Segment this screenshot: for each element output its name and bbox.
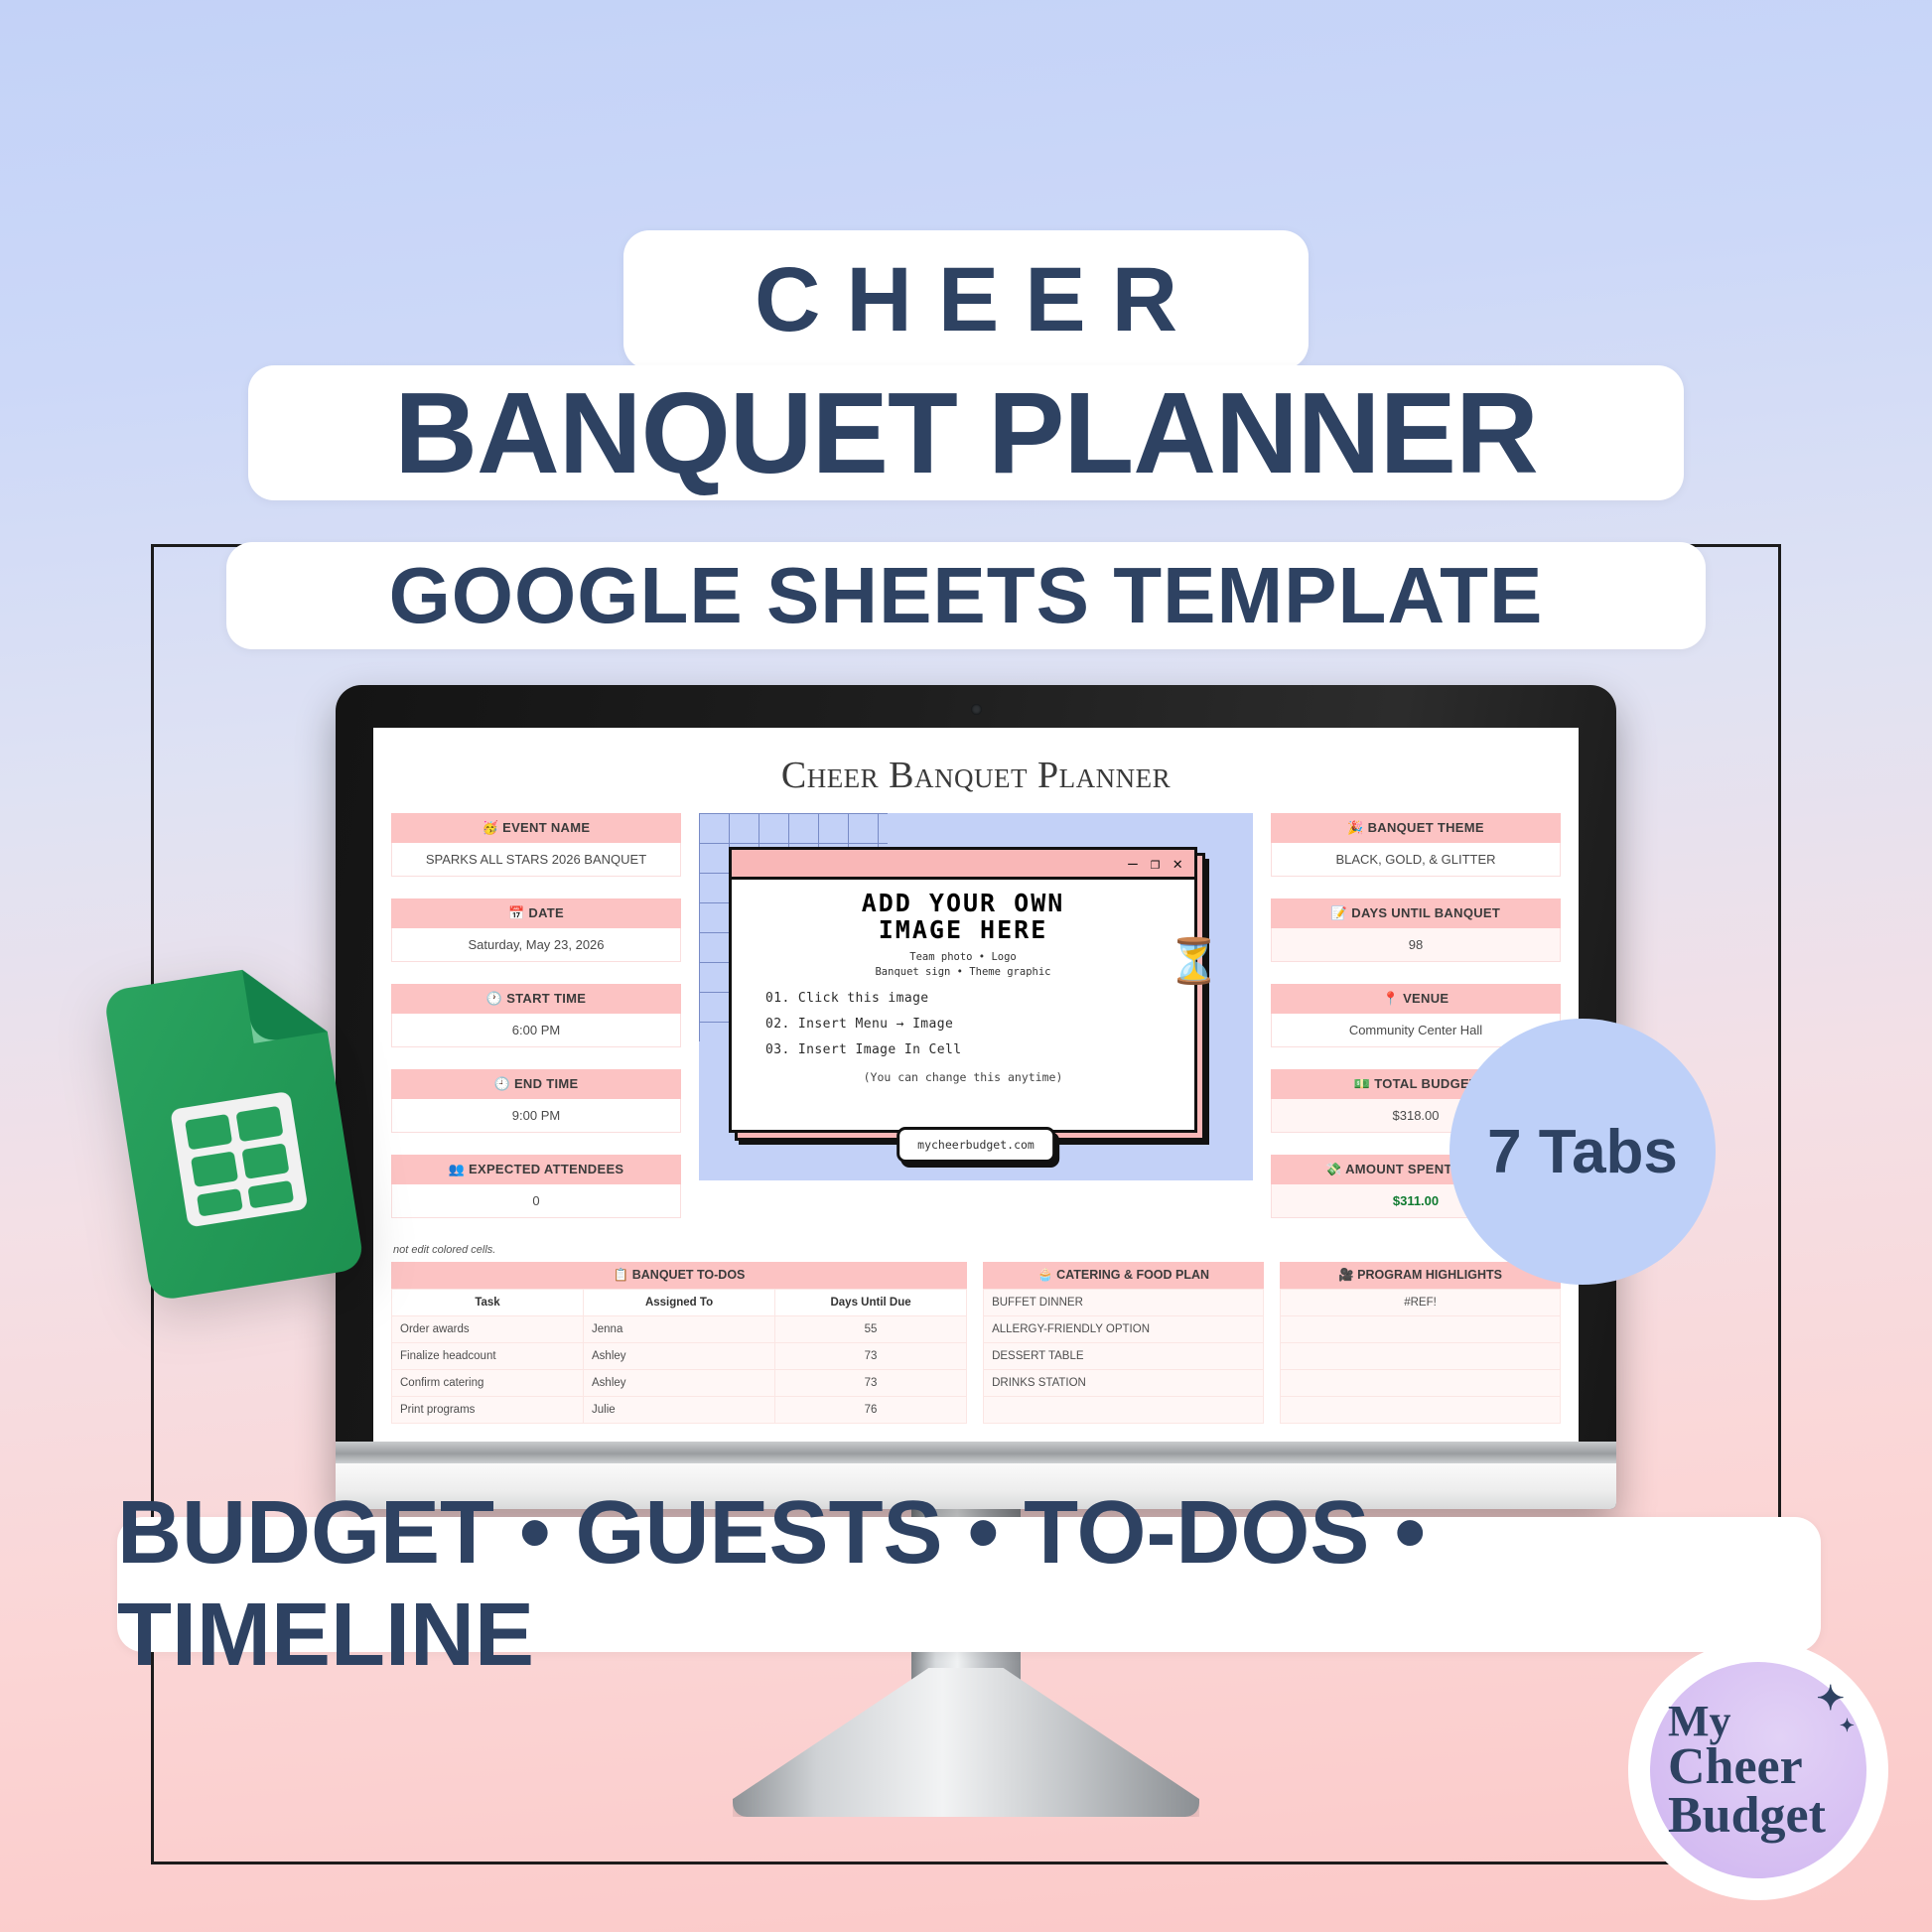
movie-camera-icon: 🎥 [1338,1268,1354,1282]
column-assigned-to: Assigned To [584,1290,775,1316]
placeholder-sub-line2: Banquet sign • Theme graphic [744,965,1182,980]
list-item[interactable] [1281,1397,1561,1424]
program-table: #REF! [1280,1289,1561,1424]
website-url-chip[interactable]: mycheerbudget.com [897,1127,1055,1163]
image-placeholder-canvas: ⏳ — ❐ ✕ ADD YOUR OWN IMAGE HERE Team pho… [699,813,1253,1180]
logo-line-my: My [1668,1701,1731,1742]
field-header: 🥳 EVENT NAME [391,813,681,843]
column-task: Task [392,1290,584,1316]
cell-catering[interactable] [984,1397,1264,1424]
cell-assignee[interactable]: Julie [584,1397,775,1424]
list-item[interactable]: DESSERT TABLE [984,1343,1264,1370]
close-icon[interactable]: ✕ [1173,856,1182,872]
todos-table-block: 📋 BANQUET TO-DOS Task Assigned To Days U… [391,1262,967,1424]
memo-icon: 📝 [1331,905,1348,920]
program-title: PROGRAM HIGHLIGHTS [1357,1268,1502,1282]
field-end-time: 🕘 END TIME 9:00 PM [391,1069,681,1133]
field-header: 🕘 END TIME [391,1069,681,1099]
todos-title: BANQUET TO-DOS [632,1268,746,1282]
placeholder-heading-line2: IMAGE HERE [744,916,1182,943]
cell-program[interactable] [1281,1397,1561,1424]
field-header: 📝 DAYS UNTIL BANQUET [1271,898,1561,928]
cell-catering[interactable]: ALLERGY-FRIENDLY OPTION [984,1316,1264,1343]
instruction-step-2: 02. Insert Menu → Image [765,1017,1182,1032]
cell-program[interactable] [1281,1316,1561,1343]
party-popper-icon: 🥳 [483,820,499,835]
cupcake-icon: 🧁 [1037,1268,1053,1282]
cell-days[interactable]: 55 [775,1316,967,1343]
field-label: START TIME [506,991,586,1006]
list-item[interactable]: #REF! [1281,1290,1561,1316]
field-expected-attendees: 👥 EXPECTED ATTENDEES 0 [391,1155,681,1218]
todos-table-header: 📋 BANQUET TO-DOS [391,1262,967,1289]
calendar-icon: 📅 [508,905,525,920]
list-item[interactable]: DRINKS STATION [984,1370,1264,1397]
sparkle-small-icon: ✦ [1840,1718,1855,1734]
list-item[interactable] [984,1397,1264,1424]
field-value[interactable]: 6:00 PM [391,1014,681,1047]
money-icon: 💵 [1354,1076,1371,1091]
program-table-block: 🎥 PROGRAM HIGHLIGHTS #REF! [1280,1262,1561,1424]
field-header: 👥 EXPECTED ATTENDEES [391,1155,681,1184]
field-value[interactable]: Saturday, May 23, 2026 [391,928,681,962]
hero-subtitle: GOOGLE SHEETS TEMPLATE [226,542,1706,649]
field-value[interactable]: 9:00 PM [391,1099,681,1133]
spreadsheet: Cheer Banquet Planner 🥳 EVENT NAME SPARK… [373,728,1579,1442]
field-label: DATE [528,905,564,920]
left-field-column: 🥳 EVENT NAME SPARKS ALL STARS 2026 BANQU… [391,813,681,1240]
hourglass-icon: ⏳ [1167,940,1221,984]
cell-assignee[interactable]: Ashley [584,1370,775,1397]
webcam-icon [971,704,982,715]
field-label: EXPECTED ATTENDEES [469,1162,623,1176]
table-row[interactable]: Finalize headcount Ashley 73 [392,1343,967,1370]
cell-task[interactable]: Finalize headcount [392,1343,584,1370]
cell-days[interactable]: 73 [775,1370,967,1397]
tabs-count-badge: 7 Tabs [1449,1019,1716,1285]
sheet-title: Cheer Banquet Planner [391,754,1561,797]
field-event-name: 🥳 EVENT NAME SPARKS ALL STARS 2026 BANQU… [391,813,681,877]
cell-program[interactable] [1281,1370,1561,1397]
window-body: ADD YOUR OWN IMAGE HERE Team photo • Log… [732,880,1194,1090]
sheet-top-row: 🥳 EVENT NAME SPARKS ALL STARS 2026 BANQU… [391,813,1561,1240]
cell-task[interactable]: Confirm catering [392,1370,584,1397]
field-label: VENUE [1403,991,1449,1006]
google-sheets-icon [79,954,392,1328]
map-pin-icon: 📍 [1383,991,1400,1006]
cell-program[interactable]: #REF! [1281,1290,1561,1316]
monitor-mockup: Cheer Banquet Planner 🥳 EVENT NAME SPARK… [336,685,1616,1509]
placeholder-heading-line1: ADD YOUR OWN [744,890,1182,916]
field-header: 📍 VENUE [1271,984,1561,1014]
minimize-icon[interactable]: — [1128,856,1138,872]
sparkle-icon: ✦ [1817,1684,1846,1716]
catering-table: BUFFET DINNER ALLERGY-FRIENDLY OPTION DE… [983,1289,1264,1424]
clock-nine-icon: 🕘 [494,1076,511,1091]
monitor-chin-strip [336,1442,1616,1463]
money-flying-icon: 💸 [1325,1162,1342,1176]
field-header: 🎉 BANQUET THEME [1271,813,1561,843]
people-icon: 👥 [449,1162,466,1176]
hero-title-line2: BANQUET PLANNER [248,365,1684,500]
instruction-window: — ❐ ✕ ADD YOUR OWN IMAGE HERE Team photo… [729,847,1197,1133]
list-item[interactable] [1281,1343,1561,1370]
table-row[interactable]: Print programs Julie 76 [392,1397,967,1424]
cell-task[interactable]: Print programs [392,1397,584,1424]
list-item[interactable] [1281,1370,1561,1397]
field-value[interactable]: 0 [391,1184,681,1218]
cell-days[interactable]: 73 [775,1343,967,1370]
field-header: 📅 DATE [391,898,681,928]
column-days-until-due: Days Until Due [775,1290,967,1316]
field-date: 📅 DATE Saturday, May 23, 2026 [391,898,681,962]
cell-task[interactable]: Order awards [392,1316,584,1343]
cell-catering[interactable]: DESSERT TABLE [984,1343,1264,1370]
field-banquet-theme: 🎉 BANQUET THEME BLACK, GOLD, & GLITTER [1271,813,1561,877]
field-label: TOTAL BUDGET [1374,1076,1477,1091]
restore-icon[interactable]: ❐ [1151,856,1161,872]
tabs-count-label: 7 Tabs [1487,1117,1678,1187]
list-item[interactable]: ALLERGY-FRIENDLY OPTION [984,1316,1264,1343]
cell-assignee[interactable]: Jenna [584,1316,775,1343]
clipboard-icon: 📋 [614,1268,629,1282]
brand-logo: My Cheer Budget ✦ ✦ [1628,1640,1888,1900]
window-titlebar: — ❐ ✕ [732,850,1194,880]
cell-catering[interactable]: DRINKS STATION [984,1370,1264,1397]
edit-warning-note: not edit colored cells. [393,1244,1561,1256]
field-label: EVENT NAME [502,820,590,835]
clock-icon: 🕐 [486,991,503,1006]
catering-table-header: 🧁 CATERING & FOOD PLAN [983,1262,1264,1289]
table-header-row: Task Assigned To Days Until Due [392,1290,967,1316]
instruction-note: (You can change this anytime) [744,1070,1182,1084]
confetti-icon: 🎉 [1347,820,1364,835]
monitor-screen: Cheer Banquet Planner 🥳 EVENT NAME SPARK… [373,728,1579,1442]
todos-table: Task Assigned To Days Until Due Order aw… [391,1289,967,1424]
cell-assignee[interactable]: Ashley [584,1343,775,1370]
field-value[interactable]: BLACK, GOLD, & GLITTER [1271,843,1561,877]
list-item[interactable] [1281,1316,1561,1343]
bottom-tables: 📋 BANQUET TO-DOS Task Assigned To Days U… [391,1262,1561,1424]
catering-table-block: 🧁 CATERING & FOOD PLAN BUFFET DINNER ALL… [983,1262,1264,1424]
cell-days[interactable]: 76 [775,1397,967,1424]
table-row[interactable]: Confirm catering Ashley 73 [392,1370,967,1397]
brand-logo-inner: My Cheer Budget ✦ ✦ [1650,1662,1866,1878]
field-label: DAYS UNTIL BANQUET [1351,905,1500,920]
hero-title-line1: CHEER [623,230,1309,369]
field-value[interactable]: SPARKS ALL STARS 2026 BANQUET [391,843,681,877]
list-item[interactable]: BUFFET DINNER [984,1290,1264,1316]
instruction-step-1: 01. Click this image [765,991,1182,1006]
field-days-until-banquet: 📝 DAYS UNTIL BANQUET 98 [1271,898,1561,962]
logo-line-cheer: Cheer [1668,1742,1803,1791]
hero-footer-banner: BUDGET • GUESTS • TO-DOS • TIMELINE [117,1517,1821,1652]
table-row[interactable]: Order awards Jenna 55 [392,1316,967,1343]
catering-title: CATERING & FOOD PLAN [1056,1268,1209,1282]
field-label: END TIME [514,1076,579,1091]
cell-program[interactable] [1281,1343,1561,1370]
logo-line-budget: Budget [1668,1791,1826,1840]
field-value: 98 [1271,928,1561,962]
cell-catering[interactable]: BUFFET DINNER [984,1290,1264,1316]
field-start-time: 🕐 START TIME 6:00 PM [391,984,681,1047]
field-header: 🕐 START TIME [391,984,681,1014]
field-label: BANQUET THEME [1368,820,1484,835]
placeholder-sub-line1: Team photo • Logo [744,950,1182,965]
image-placeholder-zone[interactable]: ⏳ — ❐ ✕ ADD YOUR OWN IMAGE HERE Team pho… [699,813,1253,1180]
instruction-step-3: 03. Insert Image In Cell [765,1042,1182,1057]
